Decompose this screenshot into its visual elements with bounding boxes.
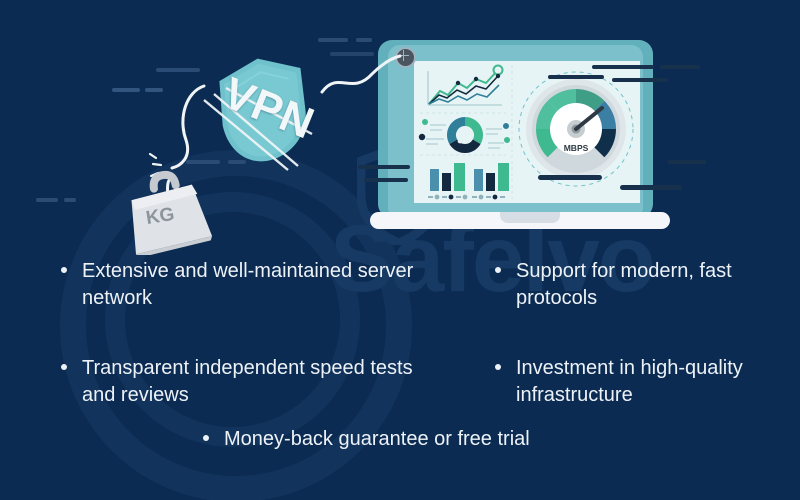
decor-dash [660,65,700,69]
gauge-label: MBPS [564,143,589,153]
bar-chart-icon [428,163,509,199]
decor-dash [548,75,604,79]
list-item-label: Transparent independent speed tests and … [82,357,413,406]
weight-label: KG [144,204,176,230]
bullet-dot [61,364,67,370]
list-item: Extensive and well-maintained server net… [58,258,418,311]
vpn-badge: VPN [196,42,336,174]
decor-dash [612,78,668,82]
decor-dash [592,65,654,69]
bullet-dot [61,267,67,273]
speedometer-icon: MBPS [519,72,633,186]
decor-dash [330,52,374,56]
list-item-footer: Money-back guarantee or free trial [200,426,644,453]
feature-column-right: Support for modern, fast protocols Inves… [492,258,792,452]
decor-dash [156,68,200,72]
list-item: Investment in high-quality infrastructur… [492,355,792,408]
slide-canvas: Safelvo [0,0,800,500]
bullet-dot [203,435,209,441]
weight-icon: KG [108,170,213,255]
decor-dash [620,185,682,190]
decor-dash [538,175,602,180]
list-item-label: Extensive and well-maintained server net… [82,260,413,309]
decor-dash [145,88,163,92]
decor-dash [64,198,76,202]
bullet-dot [495,364,501,370]
laptop-trackpad [500,212,560,223]
list-item: Transparent independent speed tests and … [58,355,418,408]
list-item: Support for modern, fast protocols [492,258,792,311]
decor-dash [112,88,140,92]
decor-dash [358,165,410,169]
decor-dash [668,160,706,164]
feature-column-left: Extensive and well-maintained server net… [58,258,418,452]
decor-dash [36,198,58,202]
bullet-dot [495,267,501,273]
donut-chart-icon [447,117,483,153]
feature-list: Extensive and well-maintained server net… [0,248,800,500]
list-item-label: Money-back guarantee or free trial [224,428,530,450]
dashboard-screen: MBPS [414,61,640,203]
line-chart-icon [428,66,503,106]
list-item-label: Support for modern, fast protocols [516,260,732,309]
camera-node-icon [395,47,416,68]
decor-dash [364,178,408,182]
dashboard-graphics: MBPS [414,61,640,203]
list-item-label: Investment in high-quality infrastructur… [516,357,743,406]
